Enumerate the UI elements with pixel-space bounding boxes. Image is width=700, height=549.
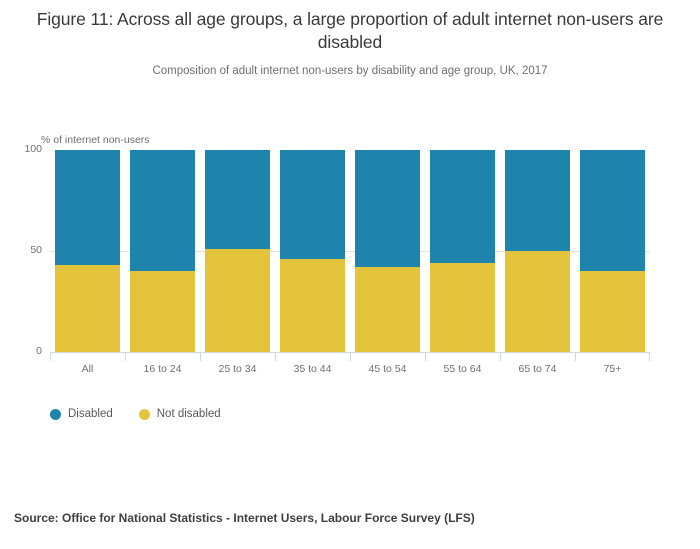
- x-axis-tick-mark: [425, 352, 426, 361]
- bar-segment-not-disabled[interactable]: [505, 251, 570, 352]
- bar-stack[interactable]: [430, 150, 495, 352]
- bar-series-group: [50, 150, 650, 352]
- chart-plot: % of internet non-users 050100 All16 to …: [0, 0, 700, 400]
- bar-stack[interactable]: [355, 150, 420, 352]
- bar-group[interactable]: [350, 150, 425, 352]
- x-axis-tick-label: 25 to 34: [200, 363, 275, 375]
- bars-area: [50, 150, 650, 352]
- bar-segment-not-disabled[interactable]: [355, 267, 420, 352]
- x-axis-tick-label: 45 to 54: [350, 363, 425, 375]
- bar-segment-not-disabled[interactable]: [430, 263, 495, 352]
- legend-swatch-circle-icon: [50, 409, 61, 420]
- x-axis-tick-mark: [275, 352, 276, 361]
- y-axis-unit-label: % of internet non-users: [41, 134, 150, 146]
- bar-segment-disabled[interactable]: [55, 150, 120, 265]
- bar-group[interactable]: [500, 150, 575, 352]
- bar-segment-not-disabled[interactable]: [280, 259, 345, 352]
- legend-label: Not disabled: [157, 408, 221, 420]
- x-axis-tick-mark: [50, 352, 51, 361]
- x-axis-tick-label: 55 to 64: [425, 363, 500, 375]
- bar-group[interactable]: [425, 150, 500, 352]
- bar-group[interactable]: [200, 150, 275, 352]
- bar-stack[interactable]: [580, 150, 645, 352]
- bar-segment-disabled[interactable]: [355, 150, 420, 267]
- x-axis-tick-mark: [575, 352, 576, 361]
- source-note: Source: Office for National Statistics -…: [14, 511, 475, 525]
- bar-stack[interactable]: [55, 150, 120, 352]
- x-axis-tick-label: 65 to 74: [500, 363, 575, 375]
- x-axis-tick-mark: [649, 352, 650, 361]
- bar-segment-disabled[interactable]: [130, 150, 195, 271]
- bar-segment-not-disabled[interactable]: [205, 249, 270, 352]
- x-axis: All16 to 2425 to 3435 to 4445 to 5455 to…: [50, 352, 650, 380]
- bar-group[interactable]: [575, 150, 650, 352]
- x-axis-tick-mark: [350, 352, 351, 361]
- y-axis-tick-label: 0: [6, 345, 42, 357]
- legend-label: Disabled: [68, 408, 113, 420]
- bar-segment-not-disabled[interactable]: [130, 271, 195, 352]
- y-axis-tick-label: 50: [6, 244, 42, 256]
- bar-segment-disabled[interactable]: [580, 150, 645, 271]
- bar-segment-disabled[interactable]: [505, 150, 570, 251]
- bar-group[interactable]: [275, 150, 350, 352]
- bar-stack[interactable]: [205, 150, 270, 352]
- bar-group[interactable]: [50, 150, 125, 352]
- bar-segment-disabled[interactable]: [430, 150, 495, 263]
- bar-segment-disabled[interactable]: [280, 150, 345, 259]
- bar-stack[interactable]: [505, 150, 570, 352]
- legend-item[interactable]: Disabled: [50, 408, 113, 420]
- x-axis-tick-mark: [500, 352, 501, 361]
- bar-segment-not-disabled[interactable]: [55, 265, 120, 352]
- bar-segment-disabled[interactable]: [205, 150, 270, 249]
- x-axis-tick-label: 75+: [575, 363, 650, 375]
- bar-group[interactable]: [125, 150, 200, 352]
- y-axis-tick-label: 100: [6, 143, 42, 155]
- x-axis-tick-mark: [200, 352, 201, 361]
- bar-segment-not-disabled[interactable]: [580, 271, 645, 352]
- legend-swatch-circle-icon: [139, 409, 150, 420]
- bar-stack[interactable]: [280, 150, 345, 352]
- chart-legend: DisabledNot disabled: [50, 408, 247, 420]
- legend-item[interactable]: Not disabled: [139, 408, 221, 420]
- x-axis-tick-mark: [125, 352, 126, 361]
- x-axis-tick-label: All: [50, 363, 125, 375]
- bar-stack[interactable]: [130, 150, 195, 352]
- x-axis-tick-label: 16 to 24: [125, 363, 200, 375]
- figure-container: Figure 11: Across all age groups, a larg…: [0, 0, 700, 549]
- x-axis-tick-label: 35 to 44: [275, 363, 350, 375]
